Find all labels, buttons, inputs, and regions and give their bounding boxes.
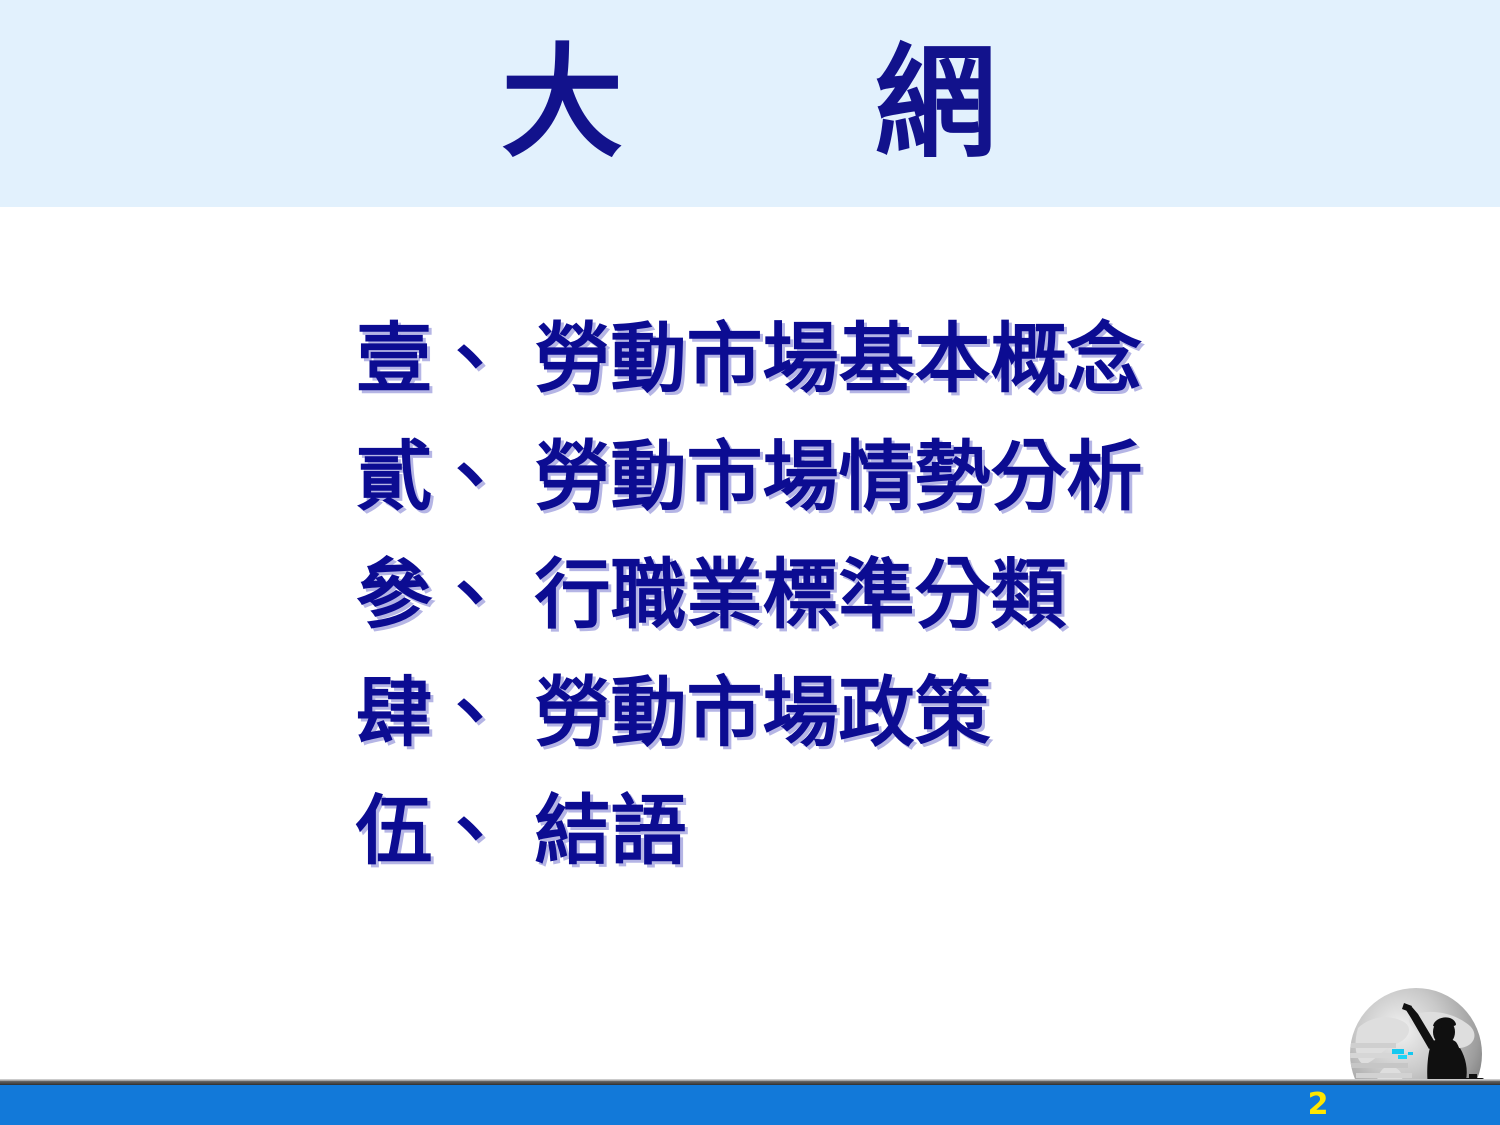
page-title: 大 網: [0, 38, 1500, 170]
outline-list: 壹、 勞動市場基本概念 貳、 勞動市場情勢分析 參、 行職業標準分類 肆、 勞動…: [356, 300, 1356, 890]
list-item[interactable]: 參、 行職業標準分類: [356, 536, 1356, 654]
list-item[interactable]: 肆、 勞動市場政策: [356, 654, 1356, 772]
list-item[interactable]: 伍、 結語: [356, 772, 1356, 890]
list-item[interactable]: 壹、 勞動市場基本概念: [356, 300, 1356, 418]
list-item[interactable]: 貳、 勞動市場情勢分析: [356, 418, 1356, 536]
page-number: 2: [1296, 1087, 1340, 1123]
slide: 大 網 壹、 勞動市場基本概念 貳、 勞動市場情勢分析 參、 行職業標準分類 肆…: [0, 0, 1500, 1125]
bottom-bar: [0, 1085, 1500, 1125]
